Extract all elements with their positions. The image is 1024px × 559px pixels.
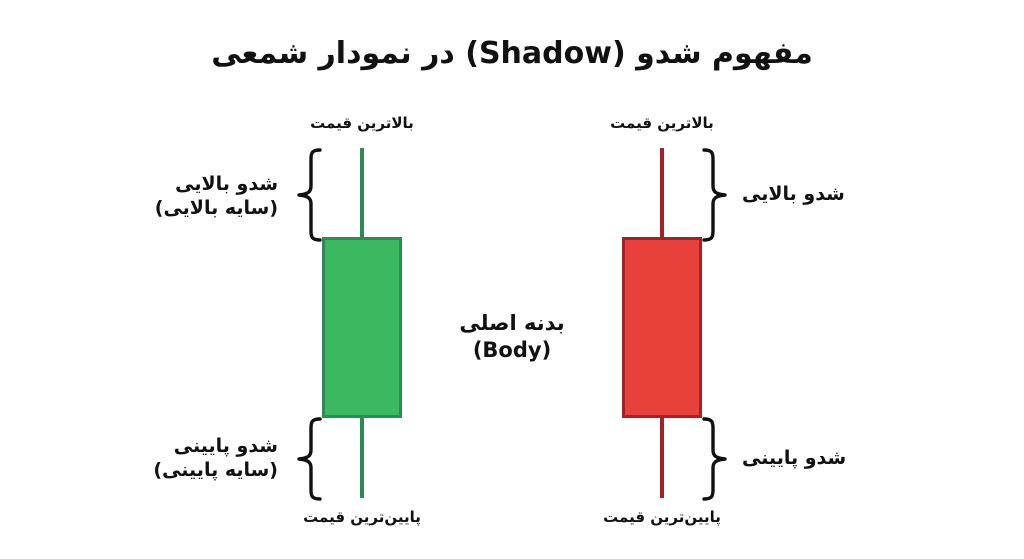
red-candle-lower-wick xyxy=(660,415,664,498)
green-candle-low-price-label: پایین‌ترین قیمت xyxy=(272,508,452,527)
green-lower-shadow-line1: شدو پایینی xyxy=(20,434,278,458)
body-center-label: بدنه اصلی (Body) xyxy=(437,310,587,364)
green-candle-upper-shadow-brace xyxy=(296,148,322,242)
red-lower-shadow-line1: شدو پایینی xyxy=(742,446,1004,470)
green-upper-shadow-line1: شدو بالایی xyxy=(20,172,278,196)
green-lower-shadow-line2: (سایه پایینی) xyxy=(20,458,278,482)
page-title: مفهوم شدو (Shadow) در نمودار شمعی xyxy=(0,36,1024,71)
candlestick-shadow-infographic: مفهوم شدو (Shadow) در نمودار شمعی بالاتر… xyxy=(0,0,1024,559)
red-candle-upper-wick xyxy=(660,148,664,240)
green-candle-body xyxy=(322,237,402,418)
red-candle-lower-shadow-brace xyxy=(702,417,728,501)
red-candle-upper-shadow-label: شدو بالایی xyxy=(742,182,1004,206)
green-candle-high-price-label: بالاترین قیمت xyxy=(272,114,452,133)
red-candle-upper-shadow-brace xyxy=(702,148,728,242)
red-candle-high-price-label: بالاترین قیمت xyxy=(572,114,752,133)
body-label-line1: بدنه اصلی xyxy=(437,310,587,337)
green-candle-lower-shadow-brace xyxy=(296,417,322,501)
green-candle-lower-wick xyxy=(360,415,364,498)
red-candle-lower-shadow-label: شدو پایینی xyxy=(742,446,1004,470)
body-label-line2: (Body) xyxy=(437,337,587,364)
green-candle-upper-shadow-label: شدو بالایی (سایه بالایی) xyxy=(20,172,278,221)
red-candle-low-price-label: پایین‌ترین قیمت xyxy=(572,508,752,527)
green-candle-upper-wick xyxy=(360,148,364,240)
green-upper-shadow-line2: (سایه بالایی) xyxy=(20,196,278,220)
green-candle-lower-shadow-label: شدو پایینی (سایه پایینی) xyxy=(20,434,278,483)
red-upper-shadow-line1: شدو بالایی xyxy=(742,182,1004,206)
red-candle-body xyxy=(622,237,702,418)
